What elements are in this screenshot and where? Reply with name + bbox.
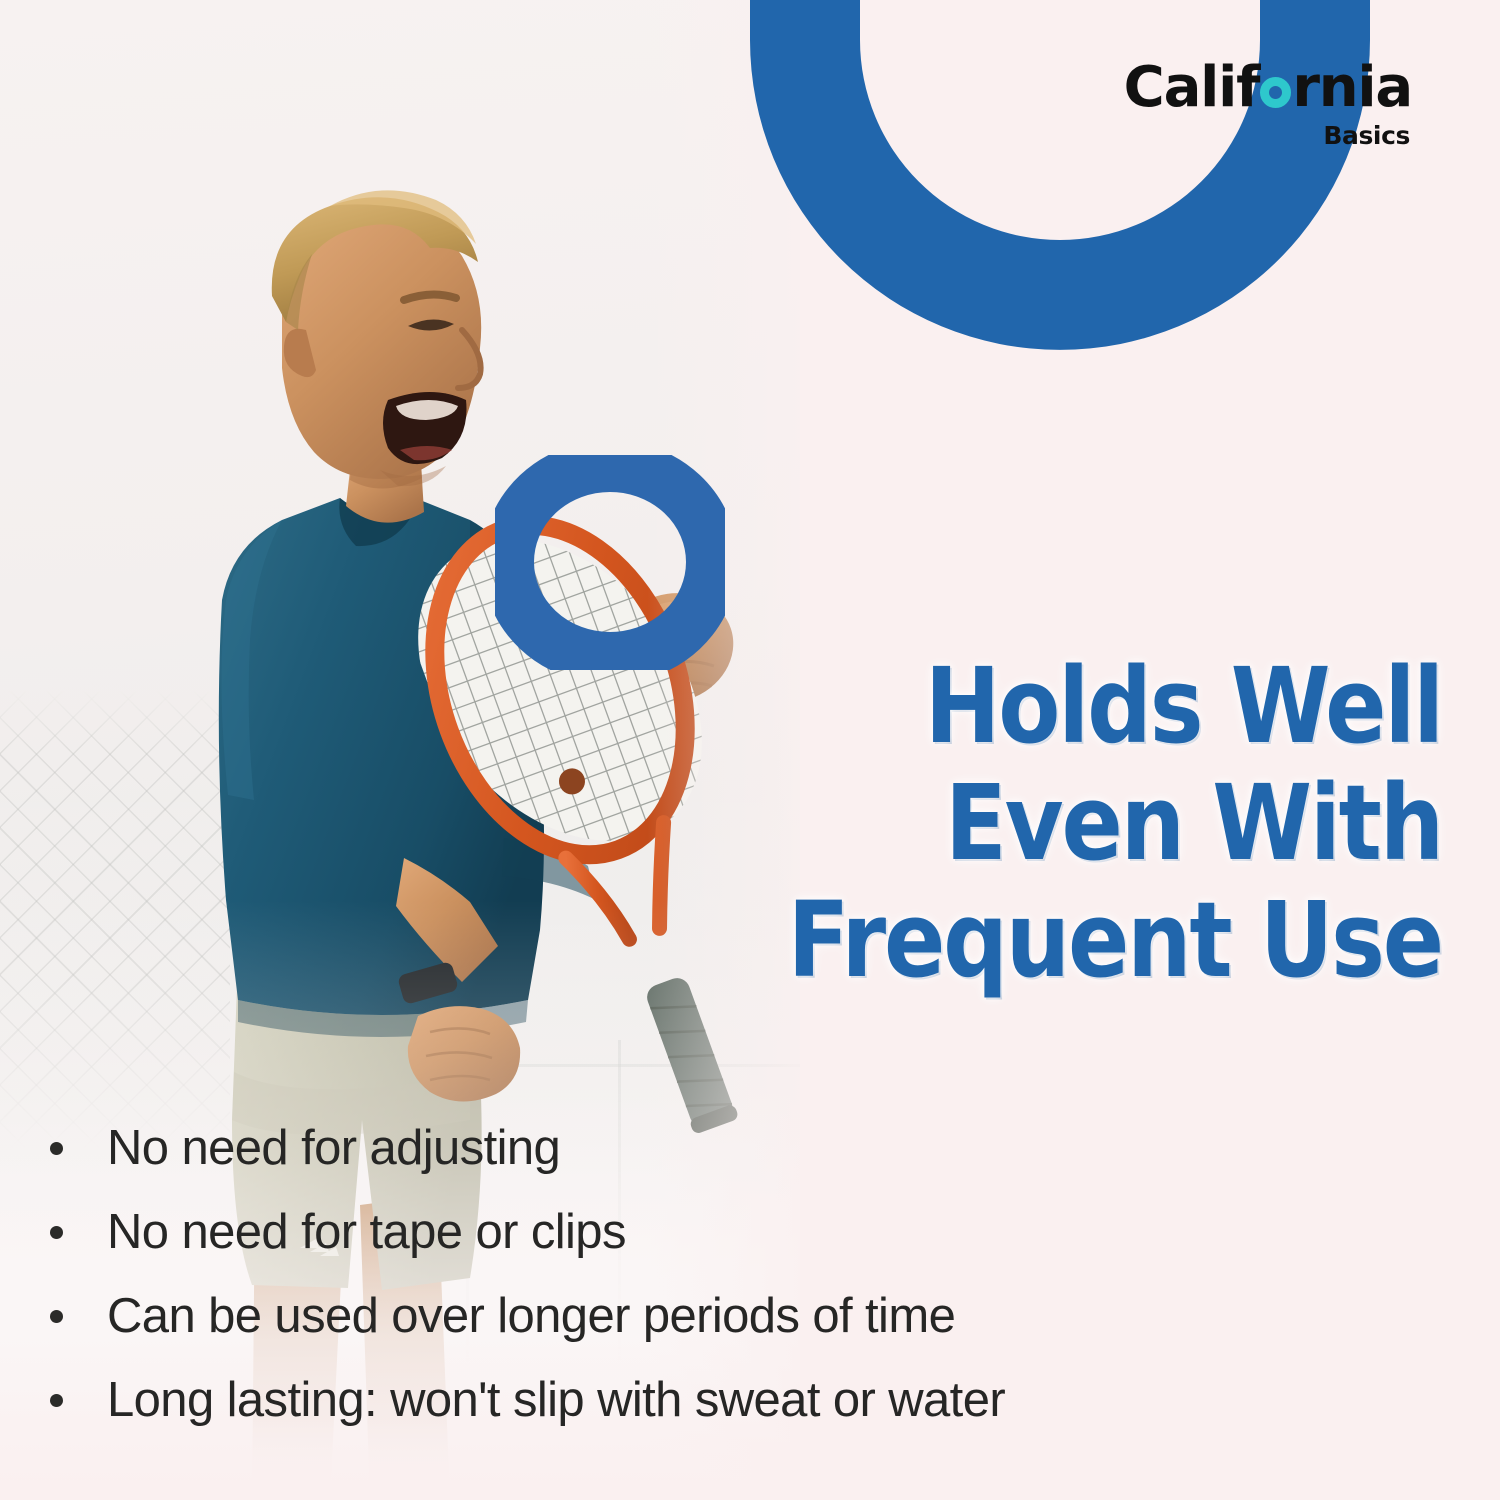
bullet-text: No need for tape or clips bbox=[107, 1208, 626, 1257]
brand-ring-shape bbox=[495, 455, 725, 670]
list-item: Long lasting: won't slip with sweat or w… bbox=[50, 1376, 1450, 1460]
feature-bullet-list: No need for adjusting No need for tape o… bbox=[50, 1124, 1450, 1460]
list-item: No need for adjusting bbox=[50, 1124, 1450, 1208]
bullet-dot-icon bbox=[50, 1310, 63, 1323]
bullet-dot-icon bbox=[50, 1142, 63, 1155]
bullet-text: No need for adjusting bbox=[107, 1124, 560, 1173]
headline-line-3: Frequent Use bbox=[763, 882, 1442, 999]
brand-logo: Califrnia Basics bbox=[1124, 60, 1412, 148]
bullet-dot-icon bbox=[50, 1394, 63, 1407]
bullet-text: Can be used over longer periods of time bbox=[107, 1292, 955, 1341]
headline-line-2: Even With bbox=[763, 765, 1442, 882]
logo-wordmark-part2: rnia bbox=[1292, 55, 1412, 120]
headline: Holds Well Even With Frequent Use bbox=[662, 648, 1442, 999]
headline-line-1: Holds Well bbox=[763, 648, 1442, 765]
logo-wordmark-part1: Calif bbox=[1124, 55, 1260, 120]
logo-teal-o-icon bbox=[1260, 77, 1291, 108]
logo-wordmark: Califrnia bbox=[1124, 60, 1412, 116]
bullet-dot-icon bbox=[50, 1226, 63, 1239]
list-item: No need for tape or clips bbox=[50, 1208, 1450, 1292]
bullet-text: Long lasting: won't slip with sweat or w… bbox=[107, 1376, 1005, 1425]
product-infographic-canvas: Califrnia Basics Holds Well Even With Fr… bbox=[0, 0, 1500, 1500]
logo-subtitle: Basics bbox=[1124, 123, 1410, 148]
list-item: Can be used over longer periods of time bbox=[50, 1292, 1450, 1376]
